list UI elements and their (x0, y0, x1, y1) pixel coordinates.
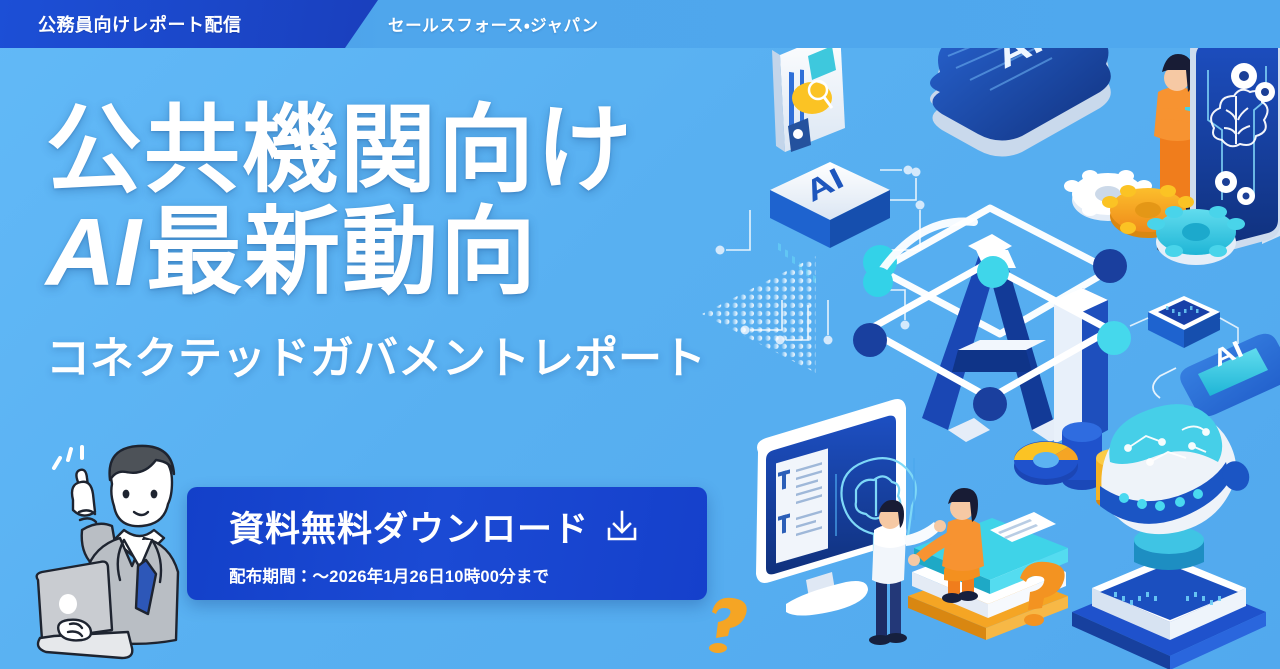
download-icon (605, 509, 639, 543)
question-mark-icon (709, 598, 797, 653)
dotted-arrow-decoration (698, 252, 818, 377)
node-icon (853, 323, 887, 357)
headline-block: 公共機関向け AI最新動向 コネクテッドガバメントレポート (46, 104, 706, 386)
document-card-icon (772, 30, 845, 152)
node-icon (973, 387, 1007, 421)
headline-subtitle: コネクテッドガバメントレポート (46, 322, 706, 386)
download-cta-button[interactable]: 資料無料ダウンロード 配布期間：～2026年1月26日10時00分まで (187, 487, 707, 600)
tablet-ai-icon: AI (1153, 334, 1280, 417)
header-category-tag: 公務員向けレポート配信 (0, 0, 378, 48)
node-icon (863, 267, 893, 297)
header-bar: 公務員向けレポート配信 セールスフォース・ジャパン (0, 0, 1280, 48)
distribution-period-note: 配布期間：～2026年1月26日10時00分まで (229, 563, 707, 587)
header-brand-label: セールスフォース・ジャパン (388, 0, 599, 48)
node-icon (1097, 321, 1131, 355)
donut-chart-icon (1014, 436, 1114, 502)
headline-line-2-rest: 最新動向 (146, 199, 538, 306)
header-category-label: 公務員向けレポート配信 (38, 11, 242, 37)
businessman-illustration (24, 438, 224, 669)
node-icon (977, 256, 1009, 288)
download-cta-main-row: 資料無料ダウンロード (229, 501, 707, 552)
headline-line-1: 公共機関向け (46, 104, 706, 198)
headline-line-2: AI最新動向 (46, 206, 706, 300)
download-cta-label: 資料無料ダウンロード (229, 501, 589, 552)
promo-banner: 公務員向けレポート配信 セールスフォース・ジャパン (0, 0, 1280, 669)
headline-ai-word: AI (46, 199, 140, 306)
node-icon (1093, 249, 1127, 283)
